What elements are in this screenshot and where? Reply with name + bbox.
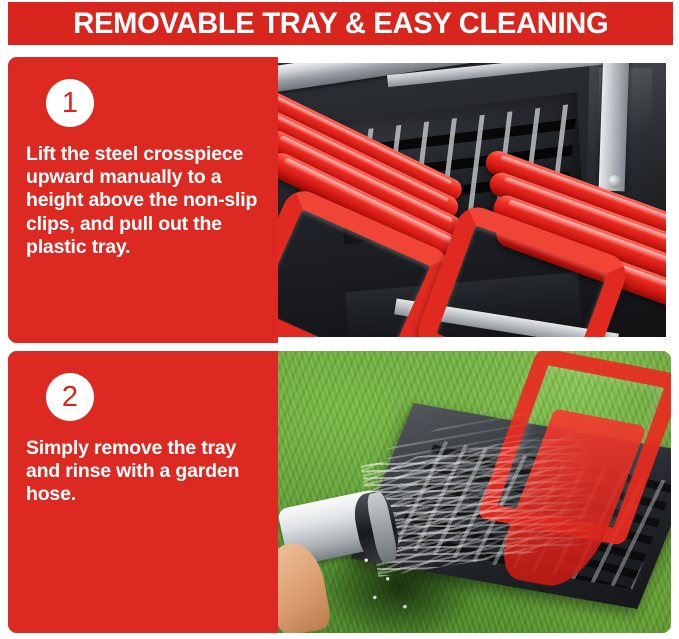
grill-steel-post: [599, 63, 630, 192]
step-1-number-badge: 1: [46, 79, 94, 127]
header-banner: REMOVABLE TRAY & EASY CLEANING: [8, 2, 673, 45]
step-1-text-block: 1 Lift the steel crosspiece upward manua…: [8, 57, 278, 343]
grill-photo-frame: [278, 63, 666, 337]
step-panel-2: 2 Simply remove the tray and rinse with …: [8, 351, 671, 633]
grill-scene-image: [278, 63, 666, 337]
page-title: REMOVABLE TRAY & EASY CLEANING: [73, 9, 608, 39]
step-2-text-block: 2 Simply remove the tray and rinse with …: [8, 351, 278, 633]
step-panel-1: 1 Lift the steel crosspiece upward manua…: [8, 57, 671, 343]
water-droplets: [349, 554, 435, 616]
step-2-instruction: Simply remove the tray and rinse with a …: [26, 437, 264, 507]
step-2-photo: [278, 351, 671, 633]
step-1-instruction: Lift the steel crosspiece upward manuall…: [26, 143, 264, 259]
hose-scene-image: [278, 351, 671, 633]
step-1-photo: [278, 57, 671, 343]
hose-photo-frame: [278, 351, 671, 633]
step-2-number-badge: 2: [46, 373, 94, 421]
